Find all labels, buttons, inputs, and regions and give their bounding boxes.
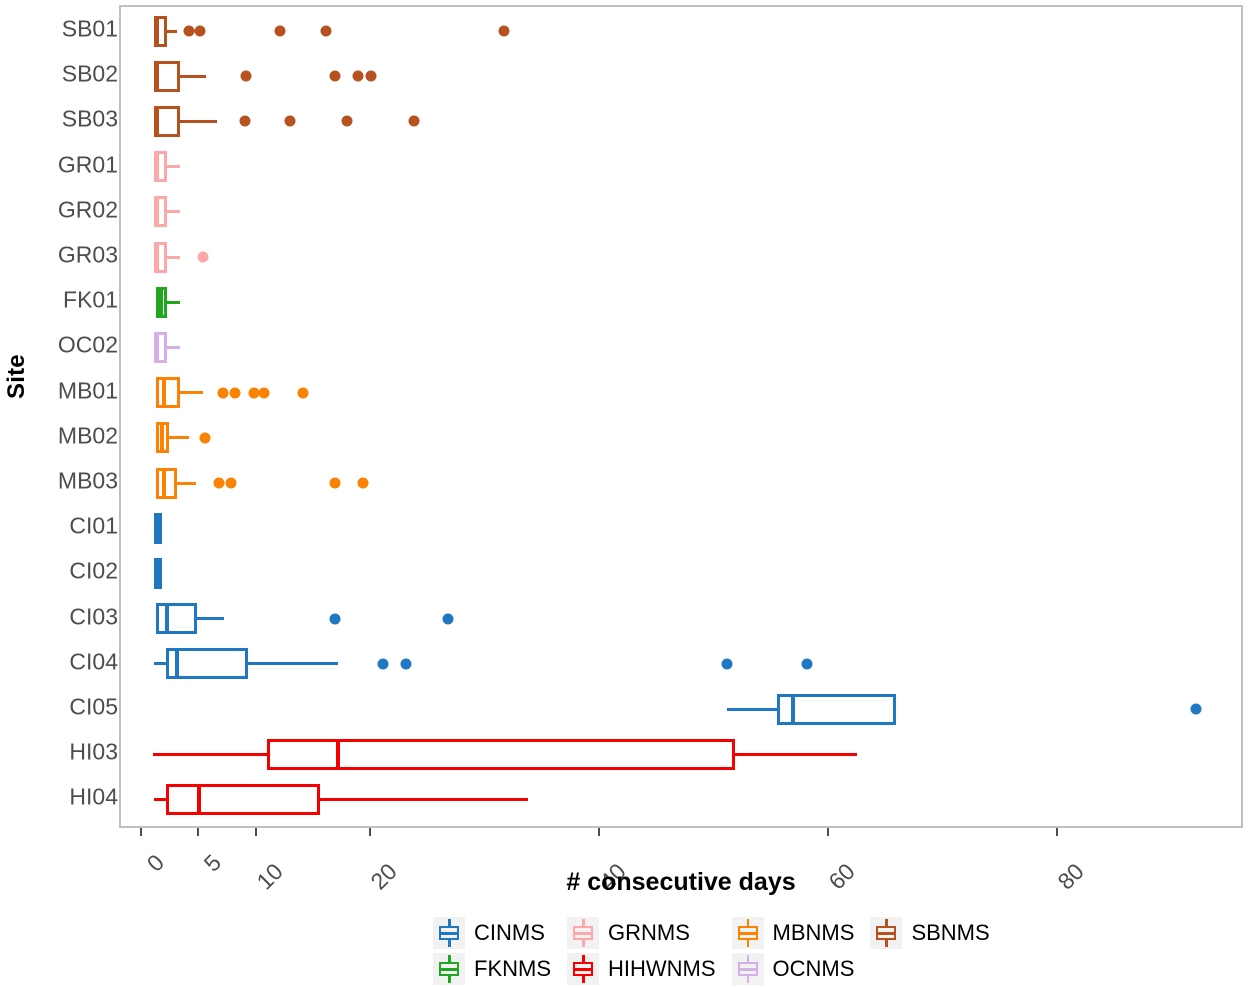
outlier-point <box>226 478 237 489</box>
legend-item-sbnms[interactable]: SBNMS <box>870 917 989 949</box>
outlier-point <box>1191 704 1202 715</box>
legend-label: HIHWNMS <box>608 956 716 982</box>
whisker-high <box>167 301 180 304</box>
whisker-high <box>248 662 337 665</box>
boxplot-figure: Site SB01SB02SB03GR01GR02GR03FK01OC02MB0… <box>0 0 1250 988</box>
legend-item-grnms[interactable]: GRNMS <box>567 917 716 949</box>
x-axis-title: # consecutive days <box>119 868 1243 897</box>
outlier-point <box>498 26 509 37</box>
legend-key-icon <box>732 917 764 949</box>
box <box>156 468 178 499</box>
boxplot-row <box>121 638 1241 689</box>
boxplot-row <box>121 548 1241 599</box>
median-line <box>175 648 179 679</box>
boxplot-row <box>121 277 1241 328</box>
y-tick-label-fk01: FK01 <box>63 287 118 314</box>
legend-key-icon <box>870 917 902 949</box>
outlier-point <box>409 116 420 127</box>
plot-panel <box>119 5 1243 828</box>
whisker-high <box>167 256 180 259</box>
whisker-low <box>154 662 165 665</box>
legend-key-icon <box>567 953 599 985</box>
outlier-point <box>365 71 376 82</box>
y-tick-label-mb03: MB03 <box>58 468 118 495</box>
whisker-low <box>154 798 165 801</box>
boxplot-row <box>121 322 1241 373</box>
legend-label: CINMS <box>474 920 545 946</box>
median-line <box>154 332 158 363</box>
y-tick-label-mb01: MB01 <box>58 377 118 404</box>
boxplot-row <box>121 593 1241 644</box>
whisker-high <box>169 436 188 439</box>
median-line <box>154 513 158 544</box>
boxplot-row <box>121 412 1241 463</box>
legend-label: GRNMS <box>608 920 690 946</box>
legend-item-mbnms[interactable]: MBNMS <box>732 917 855 949</box>
legend-item-ocnms[interactable]: OCNMS <box>732 953 855 985</box>
median-line <box>154 242 158 273</box>
outlier-point <box>330 478 341 489</box>
y-tick-label-sb02: SB02 <box>62 61 118 88</box>
y-tick-label-hi04: HI04 <box>69 784 118 811</box>
y-tick-label-sb01: SB01 <box>62 16 118 43</box>
outlier-point <box>341 116 352 127</box>
median-line <box>165 603 169 634</box>
whisker-low <box>727 708 777 711</box>
median-line <box>197 784 201 815</box>
whisker-high <box>167 165 180 168</box>
boxplot-row <box>121 96 1241 147</box>
outlier-point <box>197 252 208 263</box>
median-line <box>154 106 158 137</box>
outlier-point <box>241 71 252 82</box>
y-tick-label-oc02: OC02 <box>58 332 118 359</box>
median-line <box>160 422 164 453</box>
legend-label: SBNMS <box>911 920 989 946</box>
median-line <box>154 558 158 589</box>
whisker-high <box>180 120 218 123</box>
outlier-point <box>330 71 341 82</box>
whisker-high <box>167 30 177 33</box>
y-axis-tick-labels: SB01SB02SB03GR01GR02GR03FK01OC02MB01MB02… <box>0 0 132 828</box>
median-line <box>336 739 340 770</box>
box <box>156 61 180 92</box>
whisker-high <box>180 391 203 394</box>
plot-area <box>121 7 1241 826</box>
y-tick-label-ci02: CI02 <box>69 558 118 585</box>
y-tick-label-ci03: CI03 <box>69 603 118 630</box>
legend-label: MBNMS <box>773 920 855 946</box>
outlier-point <box>213 478 224 489</box>
outlier-point <box>330 613 341 624</box>
boxplot-row <box>121 6 1241 57</box>
outlier-point <box>802 658 813 669</box>
median-line <box>154 151 158 182</box>
outlier-point <box>259 387 270 398</box>
median-line <box>162 468 166 499</box>
x-tick-mark <box>255 828 257 836</box>
y-tick-label-ci01: CI01 <box>69 513 118 540</box>
outlier-point <box>442 613 453 624</box>
whisker-low <box>153 753 266 756</box>
legend-grid: CINMSGRNMSMBNMSSBNMSFKNMSHIHWNMSOCNMS <box>433 915 990 987</box>
whisker-high <box>735 753 858 756</box>
boxplot-row <box>121 232 1241 283</box>
median-line <box>154 61 158 92</box>
outlier-point <box>401 658 412 669</box>
x-tick-mark <box>369 828 371 836</box>
outlier-point <box>353 71 364 82</box>
whisker-high <box>180 75 206 78</box>
legend-key-icon <box>732 953 764 985</box>
outlier-point <box>218 387 229 398</box>
outlier-point <box>229 387 240 398</box>
box <box>156 603 197 634</box>
outlier-point <box>183 26 194 37</box>
outlier-point <box>239 116 250 127</box>
box <box>156 377 180 408</box>
boxplot-row <box>121 684 1241 735</box>
boxplot-row <box>121 774 1241 825</box>
outlier-point <box>321 26 332 37</box>
y-tick-label-sb03: SB03 <box>62 106 118 133</box>
boxplot-row <box>121 729 1241 780</box>
legend: CINMSGRNMSMBNMSSBNMSFKNMSHIHWNMSOCNMS <box>0 915 1250 988</box>
x-tick-mark <box>140 828 142 836</box>
boxplot-row <box>121 186 1241 237</box>
x-tick-mark <box>197 828 199 836</box>
legend-item-fknms[interactable]: FKNMS <box>433 953 551 985</box>
legend-label: FKNMS <box>474 956 551 982</box>
median-line <box>159 287 163 318</box>
outlier-point <box>721 658 732 669</box>
box <box>156 106 180 137</box>
boxplot-row <box>121 141 1241 192</box>
outlier-point <box>298 387 309 398</box>
outlier-point <box>378 658 389 669</box>
legend-label: OCNMS <box>773 956 855 982</box>
median-line <box>154 16 158 47</box>
boxplot-row <box>121 51 1241 102</box>
outlier-point <box>357 478 368 489</box>
whisker-high <box>177 482 195 485</box>
y-tick-label-mb02: MB02 <box>58 422 118 449</box>
y-tick-label-ci05: CI05 <box>69 694 118 721</box>
outlier-point <box>275 26 286 37</box>
y-tick-label-gr03: GR03 <box>58 242 118 269</box>
whisker-high <box>167 210 180 213</box>
x-tick-mark <box>1056 828 1058 836</box>
y-tick-label-hi03: HI03 <box>69 739 118 766</box>
whisker-high <box>320 798 527 801</box>
y-tick-label-ci04: CI04 <box>69 648 118 675</box>
median-line <box>791 694 795 725</box>
whisker-high <box>197 617 224 620</box>
legend-key-icon <box>433 953 465 985</box>
y-tick-label-gr02: GR02 <box>58 196 118 223</box>
boxplot-row <box>121 458 1241 509</box>
legend-key-icon <box>567 917 599 949</box>
legend-item-hihwnms[interactable]: HIHWNMS <box>567 953 716 985</box>
whisker-high <box>167 346 180 349</box>
median-line <box>162 377 166 408</box>
x-tick-mark <box>827 828 829 836</box>
y-tick-label-gr01: GR01 <box>58 151 118 178</box>
x-tick-mark <box>598 828 600 836</box>
legend-item-cinms[interactable]: CINMS <box>433 917 551 949</box>
outlier-point <box>284 116 295 127</box>
boxplot-row <box>121 367 1241 418</box>
box <box>166 784 321 815</box>
outlier-point <box>199 432 210 443</box>
median-line <box>154 196 158 227</box>
outlier-point <box>195 26 206 37</box>
boxplot-row <box>121 503 1241 554</box>
legend-key-icon <box>433 917 465 949</box>
